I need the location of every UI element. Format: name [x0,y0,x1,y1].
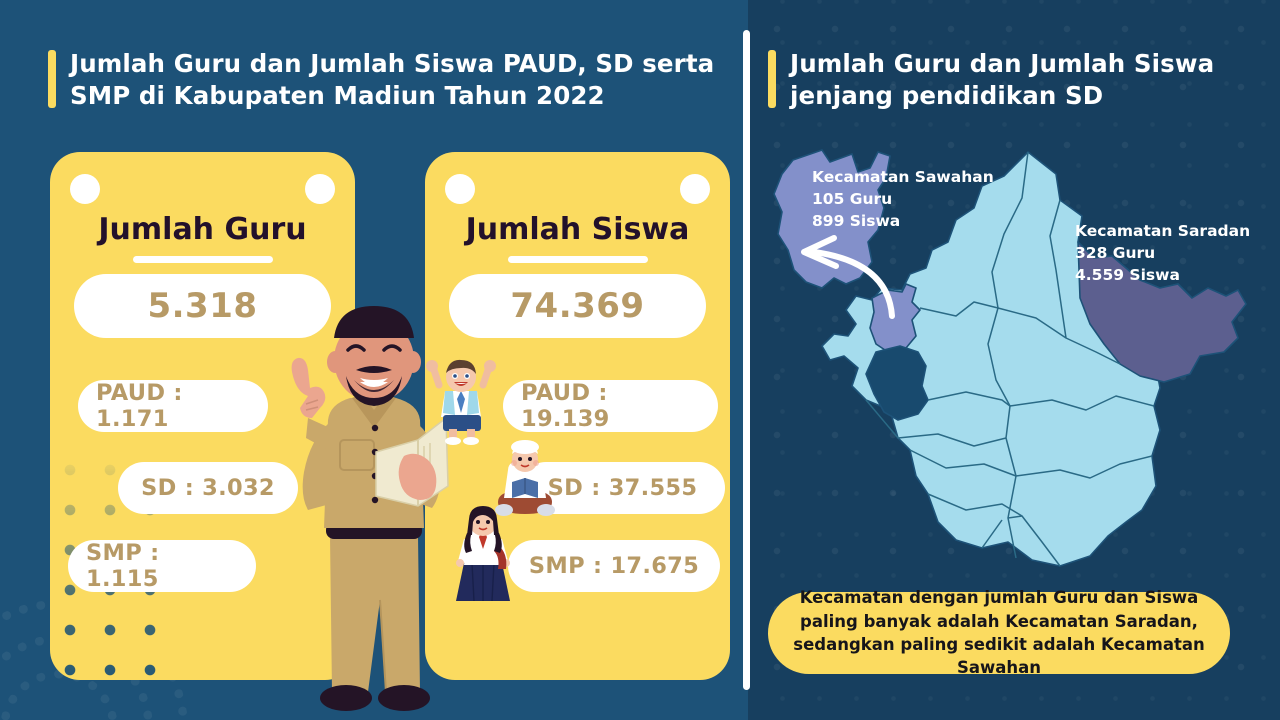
map-label-saradan: Kecamatan Saradan 328 Guru 4.559 Siswa [1075,220,1250,286]
card-siswa-smp: SMP : 17.675 [508,540,720,592]
map-region-dark [866,346,928,420]
card-siswa-heading: Jumlah Siswa [425,212,730,247]
infographic-canvas: Jumlah Guru dan Jumlah Siswa PAUD, SD se… [0,0,1280,720]
map-summary-note: Kecamatan dengan jumlah Guru dan Siswa p… [768,592,1230,674]
card-siswa-total: 74.369 [449,274,706,338]
madiun-regency-map: Kecamatan Sawahan 105 Guru 899 Siswa Kec… [760,138,1272,578]
card-guru-paud: PAUD : 1.171 [78,380,268,432]
panel-divider [743,30,750,690]
student-boy-illustration [425,355,497,445]
card-notch-right-icon [305,174,335,204]
student-girl-illustration [450,505,516,615]
card-guru-heading: Jumlah Guru [50,212,355,247]
right-panel-title: Jumlah Guru dan Jumlah Siswa jenjang pen… [790,48,1240,113]
map-label-sawahan: Kecamatan Sawahan 105 Guru 899 Siswa [812,166,994,232]
right-title-accent-bar [768,50,776,108]
card-guru-underline [133,256,273,263]
left-panel-title: Jumlah Guru dan Jumlah Siswa PAUD, SD se… [70,48,730,113]
card-guru-smp: SMP : 1.115 [68,540,256,592]
card-notch-right-icon [680,174,710,204]
card-notch-left-icon [445,174,475,204]
left-title-accent-bar [48,50,56,108]
card-siswa-paud: PAUD : 19.139 [503,380,718,432]
card-siswa-underline [508,256,648,263]
card-notch-left-icon [70,174,100,204]
